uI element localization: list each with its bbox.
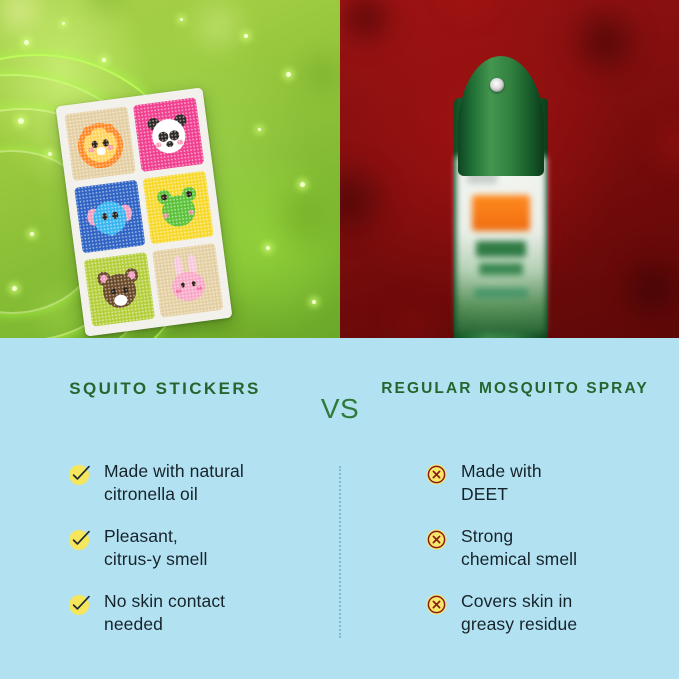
- list-item: Pleasant, citrus-y smell: [68, 525, 318, 571]
- comparison-section: SQUITO STICKERS VS REGULAR MOSQUITO SPRA…: [0, 338, 679, 679]
- comparison-infographic: SQUITO STICKERS VS REGULAR MOSQUITO SPRA…: [0, 0, 679, 679]
- check-icon: [68, 463, 91, 486]
- cons-list: Made with DEET Strong chemical smell: [425, 460, 660, 655]
- list-item-text: Made with DEET: [461, 460, 542, 506]
- list-item-text: Strong chemical smell: [461, 525, 577, 571]
- sticker-rabbit: [152, 243, 223, 317]
- sticker-panda: [133, 97, 204, 171]
- sticker-lion: [65, 106, 136, 180]
- sparkle: [24, 40, 29, 45]
- sparkle: [62, 22, 65, 25]
- label-green-line: [479, 263, 522, 275]
- right-product-title: REGULAR MOSQUITO SPRAY: [370, 376, 660, 401]
- squito-stickers-photo: [0, 0, 340, 338]
- sparkle: [48, 152, 52, 156]
- check-icon: [68, 528, 91, 551]
- list-item: No skin contact needed: [68, 590, 318, 636]
- list-item: Made with natural citronella oil: [68, 460, 318, 506]
- cross-icon: [425, 463, 448, 486]
- sparkle: [266, 246, 270, 250]
- sparkle: [12, 286, 17, 291]
- aerosol-spray-can: [454, 56, 548, 338]
- list-item: Strong chemical smell: [425, 525, 660, 571]
- sparkle: [286, 72, 291, 77]
- sparkle: [258, 128, 261, 131]
- sparkle: [300, 182, 305, 187]
- cross-icon: [425, 528, 448, 551]
- label-green-line: [476, 241, 526, 257]
- sticker-frog: [143, 170, 214, 244]
- pros-list: Made with natural citronella oil Pleasan…: [68, 460, 318, 655]
- comparison-titles: SQUITO STICKERS VS REGULAR MOSQUITO SPRA…: [0, 376, 679, 440]
- sparkle: [30, 232, 34, 236]
- cross-icon: [425, 593, 448, 616]
- column-divider: [339, 466, 341, 638]
- sticker-elephant: [74, 179, 145, 253]
- list-item-text: Covers skin in greasy residue: [461, 590, 577, 636]
- can-label: [456, 156, 546, 334]
- list-item: Covers skin in greasy residue: [425, 590, 660, 636]
- can-cap: [458, 56, 544, 176]
- list-item-text: Pleasant, citrus-y smell: [104, 525, 208, 571]
- animal-sticker-sheet: [55, 87, 232, 336]
- sparkle: [102, 58, 106, 62]
- left-product-title: SQUITO STICKERS: [20, 376, 310, 401]
- sparkle: [244, 34, 248, 38]
- check-icon: [68, 593, 91, 616]
- hero-images: [0, 0, 679, 338]
- list-item-text: Made with natural citronella oil: [104, 460, 244, 506]
- label-green-line: [474, 288, 528, 299]
- sticker-bear: [84, 252, 155, 326]
- label-orange-band: [472, 195, 530, 231]
- can-nozzle-icon: [490, 78, 504, 92]
- list-item-text: No skin contact needed: [104, 590, 225, 636]
- list-item: Made with DEET: [425, 460, 660, 506]
- sparkle: [180, 18, 183, 21]
- sparkle: [312, 300, 316, 304]
- sparkle: [18, 118, 24, 124]
